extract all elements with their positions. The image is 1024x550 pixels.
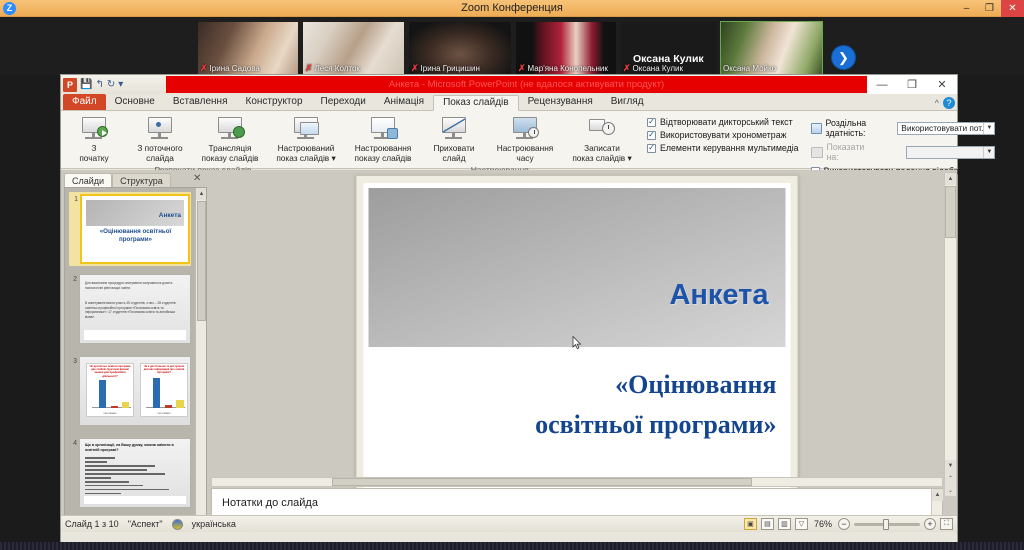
scroll-up-icon[interactable]: ▲ bbox=[196, 188, 207, 200]
zoom-maximize-button[interactable]: ❐ bbox=[978, 0, 1001, 17]
scrollbar-thumb[interactable] bbox=[197, 201, 206, 321]
show-on-icon bbox=[811, 147, 823, 158]
participant-name-overlay: Оксана Мойко bbox=[721, 63, 822, 74]
tab-slides[interactable]: Слайди bbox=[64, 173, 112, 187]
slide-image-placeholder bbox=[369, 188, 786, 347]
redo-icon[interactable]: ↻ bbox=[107, 79, 115, 90]
mini-chart-left: Чи достатньо освітня програма дає глибок… bbox=[86, 363, 134, 417]
slide-number: 1 bbox=[70, 194, 78, 264]
chevron-down-icon: ▼ bbox=[983, 147, 994, 158]
ribbon-group-monitors: Роздільна здатність: Використовувати пот… bbox=[805, 111, 1002, 169]
participant-name: Оксана Мойко bbox=[723, 64, 776, 73]
theme-name[interactable]: "Аспект" bbox=[128, 519, 163, 529]
resolution-value: Використовувати пот... bbox=[901, 123, 983, 133]
chevron-down-icon: ▼ bbox=[983, 123, 994, 134]
editor-horizontal-scrollbar[interactable] bbox=[211, 477, 943, 487]
mini-chart-title: Чи є достатньою та доступною для вас інф… bbox=[142, 365, 186, 375]
show-on-row: Показати на: ▼ bbox=[811, 142, 996, 162]
checkbox-label: Елементи керування мультимедіа bbox=[660, 143, 799, 153]
setup-slideshow-button[interactable]: Настроювання показу слайдів bbox=[345, 113, 421, 165]
slide-preview: Що в організації, на Вашу думку, можна з… bbox=[79, 438, 191, 508]
resolution-dropdown[interactable]: Використовувати пот... ▼ bbox=[897, 122, 995, 135]
checkbox-label: Відтворювати дикторський текст bbox=[660, 117, 793, 127]
custom-slideshow-icon bbox=[291, 115, 321, 143]
mini-chart-legend: так ні важко bbox=[89, 412, 131, 415]
slide-thumb-title: Анкета bbox=[159, 212, 181, 219]
participant-thumbnail[interactable]: ✗ Леся Колток bbox=[303, 22, 404, 74]
zoom-slider[interactable] bbox=[854, 523, 920, 526]
next-page-button[interactable]: ❯ bbox=[831, 45, 856, 70]
scroll-down-icon[interactable]: ▼ bbox=[945, 460, 956, 472]
chevron-right-icon: ❯ bbox=[838, 50, 849, 66]
participant-name: Ірина Грицишин bbox=[421, 64, 480, 73]
notes-placeholder: Нотатки до слайда bbox=[222, 497, 318, 509]
slide-thumb-footer bbox=[84, 330, 186, 340]
slide-subtitle-text[interactable]: «Оцінювання освітньої програми» bbox=[382, 365, 777, 445]
ppt-close-button[interactable]: ✕ bbox=[927, 75, 957, 94]
zoom-close-button[interactable]: ✕ bbox=[1001, 0, 1024, 17]
start-from-current-icon bbox=[145, 115, 175, 143]
zoom-slider-handle[interactable] bbox=[883, 519, 889, 530]
scroll-up-icon[interactable]: ▲ bbox=[945, 173, 956, 185]
next-slide-icon[interactable]: ⌄ bbox=[945, 484, 956, 496]
checkbox-icon: ✓ bbox=[647, 144, 656, 153]
participant-name-overlay: ✗ Мар'яна Конопельник bbox=[516, 63, 616, 74]
ribbon-group-setup: Настроювання показу слайдів Приховати сл… bbox=[345, 111, 805, 169]
slide-thumb-bullets bbox=[85, 457, 185, 494]
normal-view-button[interactable]: ▣ bbox=[744, 518, 757, 530]
start-from-beginning-icon bbox=[79, 115, 109, 143]
zoom-window-controls: – ❐ ✕ bbox=[955, 0, 1024, 17]
slide-thumbnail-panel[interactable]: 1 Анкета «Оцінювання освітньої програми»… bbox=[64, 187, 207, 530]
participant-name: Ірина Садова bbox=[210, 64, 260, 73]
hide-slide-icon bbox=[439, 115, 469, 143]
slide-sorter-view-button[interactable]: ▤ bbox=[761, 518, 774, 530]
record-slideshow-icon bbox=[587, 115, 617, 143]
powerpoint-window: P 💾 ↰ ↻ ▾ Анкета - Microsoft PowerPoint … bbox=[60, 74, 958, 550]
slide-panel-scrollbar[interactable]: ▲ ▼ bbox=[195, 188, 206, 529]
zoom-participant-filmstrip: ✗ Ірина Садова ✗ Леся Колток ✗ Ірина Гри… bbox=[0, 17, 1024, 75]
tab-outline[interactable]: Структура bbox=[112, 173, 171, 187]
resolution-icon bbox=[811, 123, 822, 134]
mini-chart-legend: так ні важко bbox=[143, 412, 185, 415]
powerpoint-titlebar: P 💾 ↰ ↻ ▾ Анкета - Microsoft PowerPoint … bbox=[61, 75, 957, 94]
checkbox-play-narrations[interactable]: ✓ Відтворювати дикторський текст bbox=[647, 117, 799, 127]
slide-preview: Чи достатньо освітня програма дає глибок… bbox=[79, 356, 191, 426]
active-speaker-name: Оксана Кулик bbox=[633, 53, 704, 65]
participant-name: Леся Колток bbox=[315, 64, 360, 73]
tab-transitions[interactable]: Переходи bbox=[312, 94, 375, 110]
document-title: Анкета - Microsoft PowerPoint (не вдалос… bbox=[389, 79, 664, 90]
participant-name-overlay: ✗ Леся Колток bbox=[303, 63, 404, 74]
status-bar-right: ▣ ▤ ▥ ▽ 76% − + ⛶ bbox=[744, 518, 953, 530]
setup-slideshow-icon bbox=[368, 115, 398, 143]
participant-thumbnail[interactable]: ✗ Оксана Кулик bbox=[621, 22, 717, 74]
powerpoint-window-controls: — ❐ ✕ bbox=[867, 75, 957, 94]
checkbox-icon: ✓ bbox=[647, 131, 656, 140]
slide-number: 3 bbox=[69, 356, 77, 426]
slideshow-view-button[interactable]: ▽ bbox=[795, 518, 808, 530]
participant-thumbnail[interactable]: ✗ Мар'яна Конопельник bbox=[516, 22, 616, 74]
participant-name-overlay: ✗ Ірина Садова bbox=[198, 63, 298, 74]
customize-qat-icon[interactable]: ▾ bbox=[118, 79, 123, 90]
slide-thumbnail-3[interactable]: 3 Чи достатньо освітня програма дає глиб… bbox=[69, 356, 191, 426]
participant-name-overlay: ✗ Ірина Грицишин bbox=[409, 63, 511, 74]
participant-thumbnail[interactable]: ✗ Ірина Грицишин bbox=[409, 22, 511, 74]
slide-thumb-subtitle: «Оцінювання освітньої програми» bbox=[88, 228, 183, 243]
powerpoint-app-icon[interactable]: P bbox=[63, 78, 77, 92]
tab-design[interactable]: Конструктор bbox=[237, 94, 312, 110]
slide-title-text[interactable]: Анкета bbox=[669, 279, 768, 312]
show-on-label: Показати на: bbox=[827, 142, 874, 162]
ribbon: З початку З поточного слайда bbox=[61, 111, 957, 169]
ribbon-right-controls: ^ ? bbox=[935, 97, 955, 109]
slide-preview: Для виконання процедури опитування залуч… bbox=[79, 274, 191, 344]
ppt-restore-button[interactable]: ❐ bbox=[897, 75, 927, 94]
tab-file[interactable]: Файл bbox=[63, 94, 106, 110]
tab-view[interactable]: Вигляд bbox=[602, 94, 653, 110]
undo-icon[interactable]: ↰ bbox=[95, 79, 103, 90]
broadcast-slideshow-button[interactable]: Трансляція показу слайдів bbox=[193, 113, 267, 165]
checkbox-label: Використовувати хронометраж bbox=[660, 130, 786, 140]
zoom-minimize-button[interactable]: – bbox=[955, 0, 978, 17]
editor-vertical-scrollbar[interactable]: ▲ ▼ ⌃ ⌄ bbox=[944, 172, 957, 485]
slide-preview: Анкета «Оцінювання освітньої програми» bbox=[80, 194, 190, 264]
slide-counter[interactable]: Слайд 1 з 10 bbox=[65, 519, 119, 529]
slide-thumb-text: Для виконання процедури опитування залуч… bbox=[85, 281, 185, 290]
quick-access-toolbar: P 💾 ↰ ↻ ▾ bbox=[61, 75, 123, 94]
ribbon-group-start-slideshow: З початку З поточного слайда bbox=[61, 111, 345, 169]
help-icon[interactable]: ? bbox=[943, 97, 955, 109]
fit-to-window-button[interactable]: ⛶ bbox=[940, 518, 953, 530]
participant-name: Оксана Кулик bbox=[633, 64, 683, 73]
mini-chart-right: Чи є достатньою та доступною для вас інф… bbox=[140, 363, 188, 417]
slide-thumb-footer bbox=[84, 496, 186, 504]
scroll-bottom-buttons[interactable]: ▼ ⌃ ⌄ bbox=[945, 460, 956, 484]
custom-slideshow-button[interactable]: Настроюваний показ слайдів ▾ bbox=[267, 113, 345, 165]
mini-chart-title: Чи достатньо освітня програма дає глибок… bbox=[88, 365, 132, 378]
slide-thumb-title: Що в організації, на Вашу думку, можна з… bbox=[85, 443, 185, 452]
slide-canvas[interactable]: Анкета «Оцінювання освітньої програми» bbox=[364, 183, 791, 491]
slide-panel-tabs: Слайди Структура bbox=[64, 172, 207, 187]
start-from-beginning-button[interactable]: З початку bbox=[61, 113, 127, 165]
scroll-up-icon[interactable]: ▲ bbox=[932, 489, 943, 501]
tab-slideshow[interactable]: Показ слайдів bbox=[433, 95, 519, 111]
close-panel-icon[interactable]: ✕ bbox=[193, 173, 201, 184]
previous-slide-icon[interactable]: ⌃ bbox=[945, 472, 956, 484]
rehearse-timings-icon bbox=[510, 115, 540, 143]
status-bar: Слайд 1 з 10 "Аспект" українська ▣ ▤ ▥ ▽… bbox=[61, 515, 957, 532]
mic-off-icon: ✗ bbox=[518, 64, 526, 73]
current-slide[interactable]: Анкета «Оцінювання освітньої програми» bbox=[356, 175, 799, 499]
start-from-current-slide-button[interactable]: З поточного слайда bbox=[127, 113, 193, 165]
language-label[interactable]: українська bbox=[192, 519, 236, 529]
screen: Z Zoom Конференция – ❐ ✕ ✗ Ірина Садова … bbox=[0, 0, 1024, 550]
slide-thumbnail-1[interactable]: 1 Анкета «Оцінювання освітньої програми» bbox=[69, 192, 191, 266]
checkbox-media-controls[interactable]: ✓ Елементи керування мультимедіа bbox=[647, 143, 799, 153]
zoom-window-title: Zoom Конференция bbox=[0, 2, 1024, 14]
ribbon-tab-strip: Файл Основне Вставлення Конструктор Пере… bbox=[61, 94, 957, 111]
language-flag-icon bbox=[172, 519, 183, 530]
scrollbar-thumb[interactable] bbox=[332, 478, 752, 486]
show-on-dropdown: ▼ bbox=[906, 146, 995, 159]
document-title-bar: Анкета - Microsoft PowerPoint (не вдалос… bbox=[166, 76, 887, 93]
tab-animations[interactable]: Анімація bbox=[375, 94, 433, 110]
slide-number: 2 bbox=[69, 274, 77, 344]
scrollbar-thumb[interactable] bbox=[945, 186, 956, 238]
slide-thumb-text: В анкетуванні взяли участь 45 студентів,… bbox=[85, 301, 185, 319]
slide-number: 4 bbox=[69, 438, 77, 508]
minimize-ribbon-icon[interactable]: ^ bbox=[935, 98, 939, 108]
ppt-minimize-button[interactable]: — bbox=[867, 75, 897, 94]
workspace: Слайди Структура ✕ 1 Анкета «Оцінювання … bbox=[61, 170, 957, 532]
tab-insert[interactable]: Вставлення bbox=[164, 94, 237, 110]
mic-off-icon: ✗ bbox=[623, 64, 631, 73]
slide-thumbnail-4[interactable]: 4 Що в організації, на Вашу думку, можна… bbox=[69, 438, 191, 508]
zoom-out-button[interactable]: − bbox=[838, 518, 850, 530]
slide-subtitle-line2: освітньої програми» bbox=[382, 405, 777, 445]
broadcast-slideshow-icon bbox=[215, 115, 245, 143]
participant-name: Мар'яна Конопельник bbox=[528, 64, 608, 73]
slide-thumbnail-2[interactable]: 2 Для виконання процедури опитування зал… bbox=[69, 274, 191, 344]
record-slideshow-button[interactable]: Записати показ слайдів ▾ bbox=[563, 113, 641, 165]
strike-through-icon bbox=[439, 115, 469, 143]
mouse-cursor-icon bbox=[573, 336, 583, 350]
participant-thumbnail[interactable]: ✗ Ірина Садова bbox=[198, 22, 298, 74]
mic-off-icon: ✗ bbox=[411, 64, 419, 73]
zoom-in-button[interactable]: + bbox=[924, 518, 936, 530]
participant-thumbnail-active-speaker[interactable]: Оксана Мойко bbox=[721, 22, 822, 74]
hide-slide-button[interactable]: Приховати слайд bbox=[421, 113, 487, 165]
slide-subtitle-line1: «Оцінювання bbox=[382, 365, 777, 405]
setup-checkbox-group: ✓ Відтворювати дикторський текст ✓ Викор… bbox=[641, 113, 805, 153]
zoom-level-label[interactable]: 76% bbox=[814, 519, 832, 529]
checkbox-icon: ✓ bbox=[647, 118, 656, 127]
desktop-taskbar bbox=[0, 542, 1024, 550]
tab-review[interactable]: Рецензування bbox=[519, 94, 602, 110]
zoom-titlebar: Z Zoom Конференция – ❐ ✕ bbox=[0, 0, 1024, 17]
slide-editor[interactable]: Анкета «Оцінювання освітньої програми» bbox=[211, 172, 943, 485]
save-icon[interactable]: 💾 bbox=[80, 79, 92, 90]
rehearse-timings-button[interactable]: Настроювання часу bbox=[487, 113, 563, 165]
resolution-row: Роздільна здатність: Використовувати пот… bbox=[811, 118, 996, 138]
monitors-controls: Роздільна здатність: Використовувати пот… bbox=[805, 113, 1002, 176]
tab-home[interactable]: Основне bbox=[106, 94, 164, 110]
checkbox-use-timings[interactable]: ✓ Використовувати хронометраж bbox=[647, 130, 799, 140]
mic-off-icon: ✗ bbox=[200, 64, 208, 73]
reading-view-button[interactable]: ▥ bbox=[778, 518, 791, 530]
resolution-label: Роздільна здатність: bbox=[826, 118, 894, 138]
mic-off-icon: ✗ bbox=[305, 64, 313, 73]
